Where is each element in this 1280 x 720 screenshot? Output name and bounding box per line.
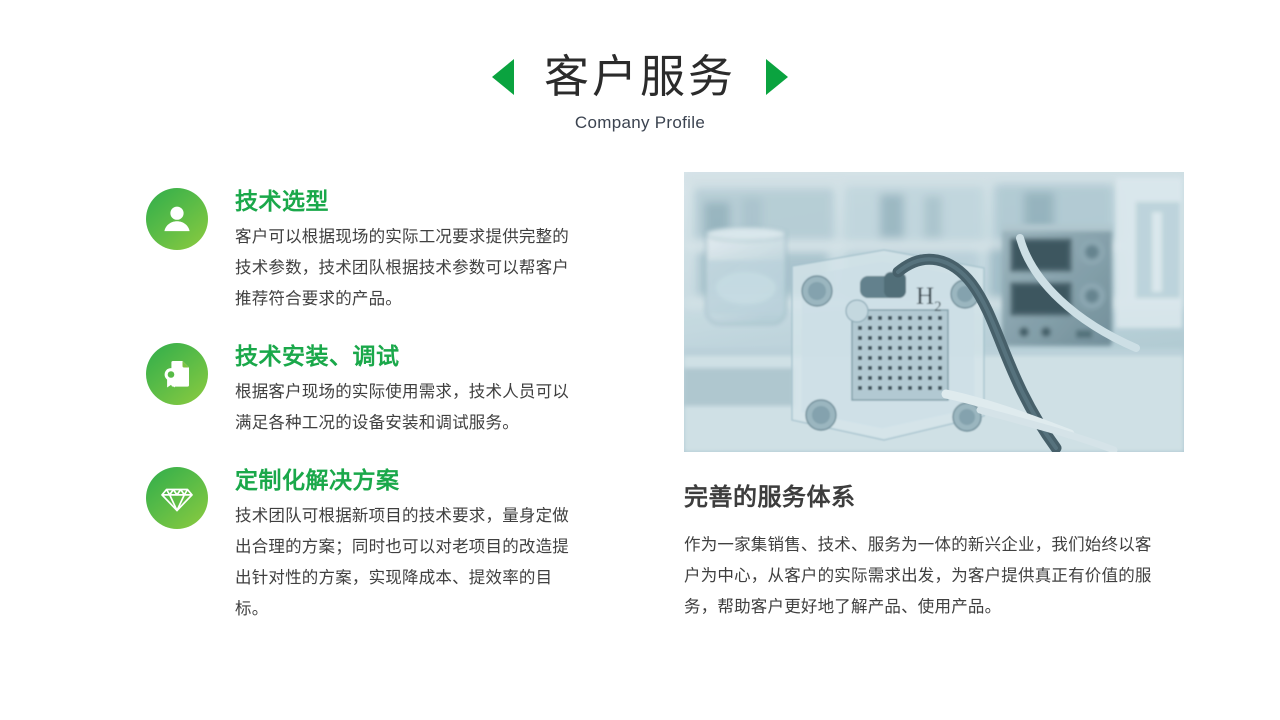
section-text: 作为一家集销售、技术、服务为一体的新兴企业，我们始终以客户为中心，从客户的实际需… <box>684 530 1164 623</box>
feature-text: 技术团队可根据新项目的技术要求，量身定做出合理的方案；同时也可以对老项目的改造提… <box>235 501 576 625</box>
feature-body: 定制化解决方案 技术团队可根据新项目的技术要求，量身定做出合理的方案；同时也可以… <box>235 465 576 625</box>
section-heading: 完善的服务体系 <box>684 482 1184 514</box>
triangle-left-icon <box>492 59 514 95</box>
feature-item: 定制化解决方案 技术团队可根据新项目的技术要求，量身定做出合理的方案；同时也可以… <box>146 465 576 625</box>
feature-body: 技术安装、调试 根据客户现场的实际使用需求，技术人员可以满足各种工况的设备安装和… <box>235 341 576 439</box>
user-icon <box>146 188 208 250</box>
certificate-document-icon <box>146 343 208 405</box>
feature-title: 技术安装、调试 <box>235 341 576 371</box>
right-column: H2 完善的服务体系 作为一家集销售、技术、服务为一体的新兴企业，我们始终以客户… <box>684 172 1184 623</box>
feature-title: 技术选型 <box>235 186 576 216</box>
page-title: 客户服务 <box>544 49 736 105</box>
page-subtitle: Company Profile <box>0 112 1280 134</box>
triangle-right-icon <box>766 59 788 95</box>
feature-title: 定制化解决方案 <box>235 465 576 495</box>
feature-body: 技术选型 客户可以根据现场的实际工况要求提供完整的技术参数，技术团队根据技术参数… <box>235 186 576 315</box>
feature-text: 客户可以根据现场的实际工况要求提供完整的技术参数，技术团队根据技术参数可以帮客户… <box>235 222 576 315</box>
feature-item: 技术选型 客户可以根据现场的实际工况要求提供完整的技术参数，技术团队根据技术参数… <box>146 186 576 315</box>
fuel-cell-photo: H2 <box>684 172 1184 452</box>
diamond-icon <box>146 467 208 529</box>
features-list: 技术选型 客户可以根据现场的实际工况要求提供完整的技术参数，技术团队根据技术参数… <box>146 186 576 625</box>
title-row: 客户服务 <box>0 46 1280 108</box>
slide-header: 客户服务 Company Profile <box>0 46 1280 134</box>
feature-text: 根据客户现场的实际使用需求，技术人员可以满足各种工况的设备安装和调试服务。 <box>235 377 576 439</box>
feature-item: 技术安装、调试 根据客户现场的实际使用需求，技术人员可以满足各种工况的设备安装和… <box>146 341 576 439</box>
